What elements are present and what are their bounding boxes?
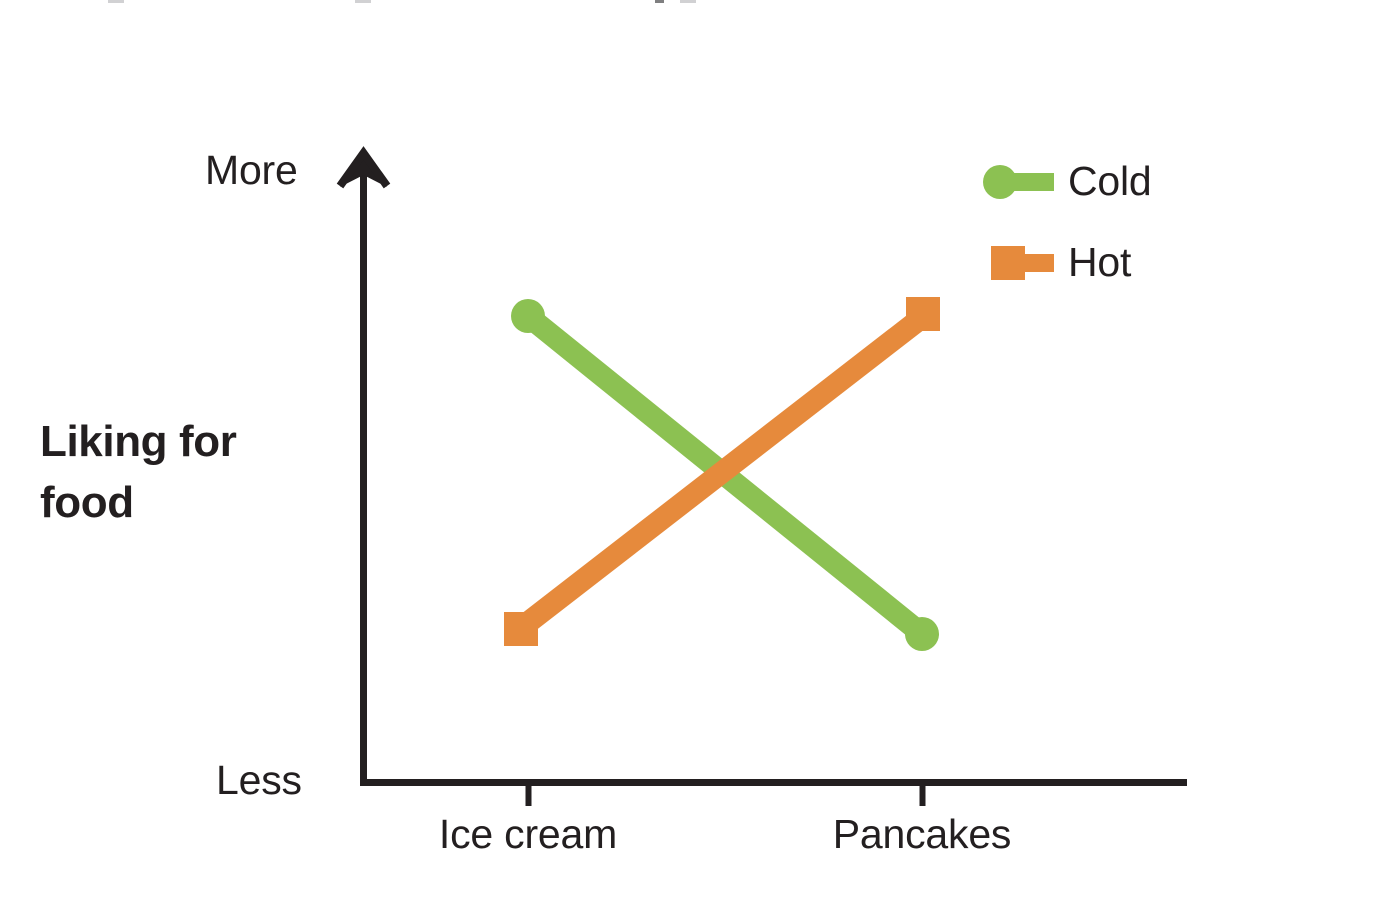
axis-group	[340, 150, 1187, 806]
legend-swatches	[983, 165, 1054, 280]
legend-label-hot[interactable]: Hot	[1068, 239, 1131, 286]
data-point-cold-ice-cream	[511, 299, 545, 333]
y-axis-title: Liking forfood	[40, 412, 340, 533]
legend-label-cold[interactable]: Cold	[1068, 158, 1152, 205]
x-tick-label-ice-cream: Ice cream	[439, 811, 617, 858]
y-axis-bottom-label: Less	[216, 757, 302, 804]
x-tick-label-pancakes: Pancakes	[833, 811, 1011, 858]
data-point-hot-ice-cream	[504, 612, 538, 646]
legend-marker-cold-circle-icon[interactable]	[983, 165, 1017, 199]
data-point-hot-pancakes	[906, 297, 940, 331]
y-axis-top-label: More	[205, 147, 298, 194]
chart-container: Liking forfood More Less Ice cream Panca…	[0, 0, 1390, 900]
legend-marker-hot-square-icon[interactable]	[991, 246, 1025, 280]
data-point-cold-pancakes	[905, 617, 939, 651]
y-axis-title-line-2: food	[40, 478, 134, 527]
y-axis-title-line-1: Liking for	[40, 417, 236, 466]
